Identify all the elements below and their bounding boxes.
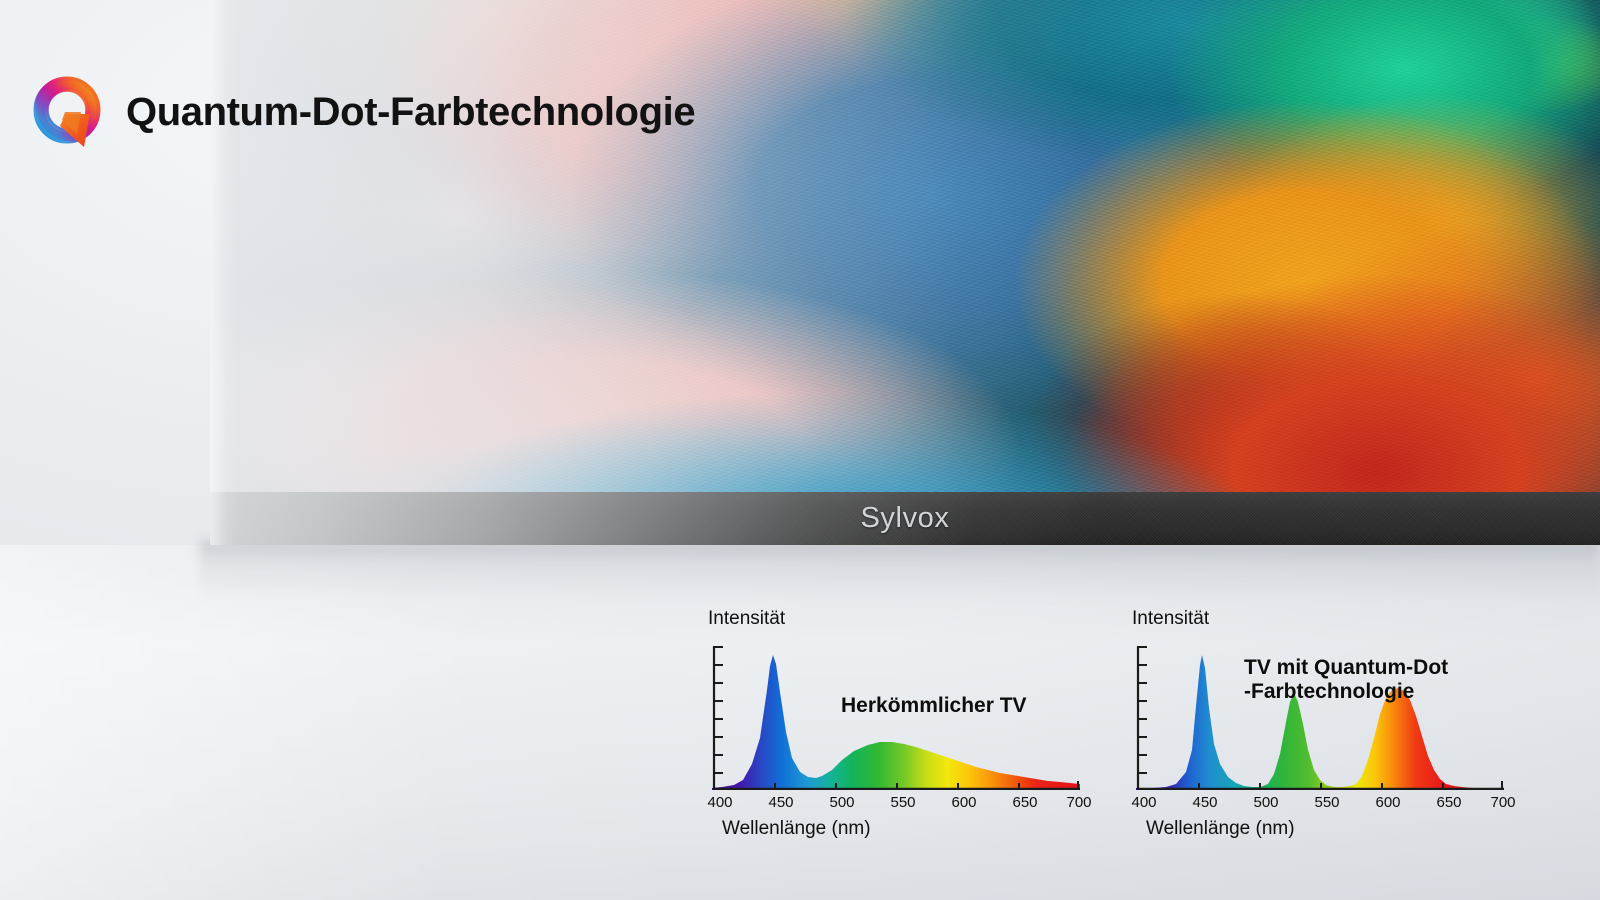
chart-right-x-axis-label: Wellenlänge (nm) xyxy=(1146,818,1295,840)
chart-quantum-dot-tv: Intensität xyxy=(1122,608,1517,858)
tv-brand-label: Sylvox xyxy=(860,502,949,535)
chart-left-y-ticks xyxy=(714,647,723,773)
chart-left-x-axis-label: Wellenlänge (nm) xyxy=(722,818,871,840)
x-tick-700: 700 xyxy=(1066,794,1091,811)
x-tick-650: 650 xyxy=(1012,794,1037,811)
chart-right-series-label: TV mit Quantum-Dot -Farbtechnologie xyxy=(1244,656,1448,705)
x-tick-550: 550 xyxy=(1314,794,1339,811)
page-title: Quantum-Dot-Farbtechnologie xyxy=(126,90,695,135)
chart-right-y-axis-label: Intensität xyxy=(1132,608,1209,630)
x-tick-600: 600 xyxy=(951,794,976,811)
chart-left-spectrum-curve xyxy=(712,655,1080,790)
x-tick-600: 600 xyxy=(1375,794,1400,811)
x-tick-500: 500 xyxy=(829,794,854,811)
chart-left-y-axis-label: Intensität xyxy=(708,608,785,630)
tv-drop-shadow xyxy=(200,540,1600,600)
x-tick-400: 400 xyxy=(1131,794,1156,811)
x-tick-450: 450 xyxy=(768,794,793,811)
chart-left-x-tick-labels: 400 450 500 550 600 650 700 xyxy=(698,794,1093,816)
tv-bezel: Sylvox xyxy=(210,492,1600,545)
quantum-q-logo-icon xyxy=(32,74,108,150)
x-tick-400: 400 xyxy=(707,794,732,811)
chart-right-x-tick-labels: 400 450 500 550 600 650 700 xyxy=(1122,794,1517,816)
chart-left-series-label: Herkömmlicher TV xyxy=(841,694,1027,718)
x-tick-550: 550 xyxy=(890,794,915,811)
x-tick-700: 700 xyxy=(1490,794,1515,811)
chart-conventional-tv: Intensität xyxy=(698,608,1093,858)
x-tick-650: 650 xyxy=(1436,794,1461,811)
x-tick-450: 450 xyxy=(1192,794,1217,811)
x-tick-500: 500 xyxy=(1253,794,1278,811)
page-header: Quantum-Dot-Farbtechnologie xyxy=(32,74,695,150)
chart-right-y-ticks xyxy=(1138,647,1147,773)
